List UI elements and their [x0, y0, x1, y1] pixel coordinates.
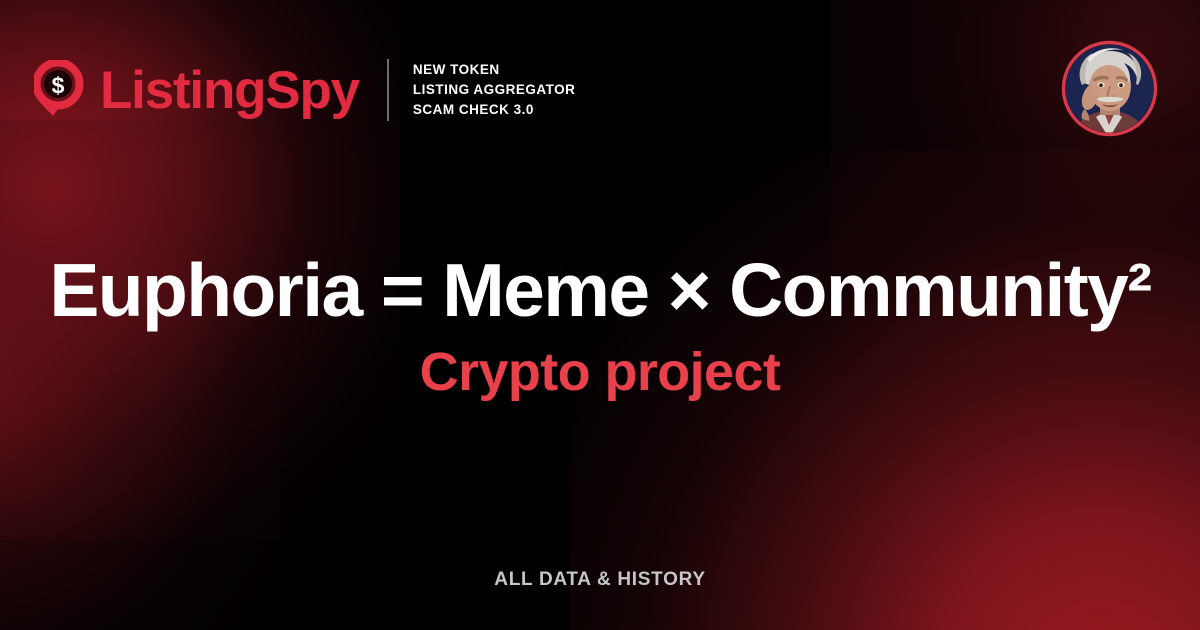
tagline-line-1: NEW TOKEN	[413, 60, 576, 80]
tagline-line-3: SCAM CHECK 3.0	[413, 100, 576, 120]
footer-note: ALL DATA & HISTORY	[0, 570, 1200, 589]
svg-text:$: $	[52, 73, 65, 99]
page-subtitle: Crypto project	[0, 344, 1200, 401]
brand-wordmark: ListingSpy	[100, 64, 359, 117]
magnifier-dollar-icon: $	[34, 60, 90, 120]
header-divider	[387, 59, 389, 121]
brand-header: $ ListingSpy NEW TOKEN LISTING AGGREGATO…	[34, 52, 575, 128]
tagline-line-2: LISTING AGGREGATOR	[413, 80, 576, 100]
page-title: Euphoria = Meme × Community²	[0, 251, 1200, 331]
avatar[interactable]	[1060, 39, 1159, 138]
brand-logo[interactable]: $ ListingSpy	[34, 60, 359, 120]
brand-tagline: NEW TOKEN LISTING AGGREGATOR SCAM CHECK …	[413, 60, 576, 120]
social-share-card: $ ListingSpy NEW TOKEN LISTING AGGREGATO…	[0, 0, 1200, 630]
